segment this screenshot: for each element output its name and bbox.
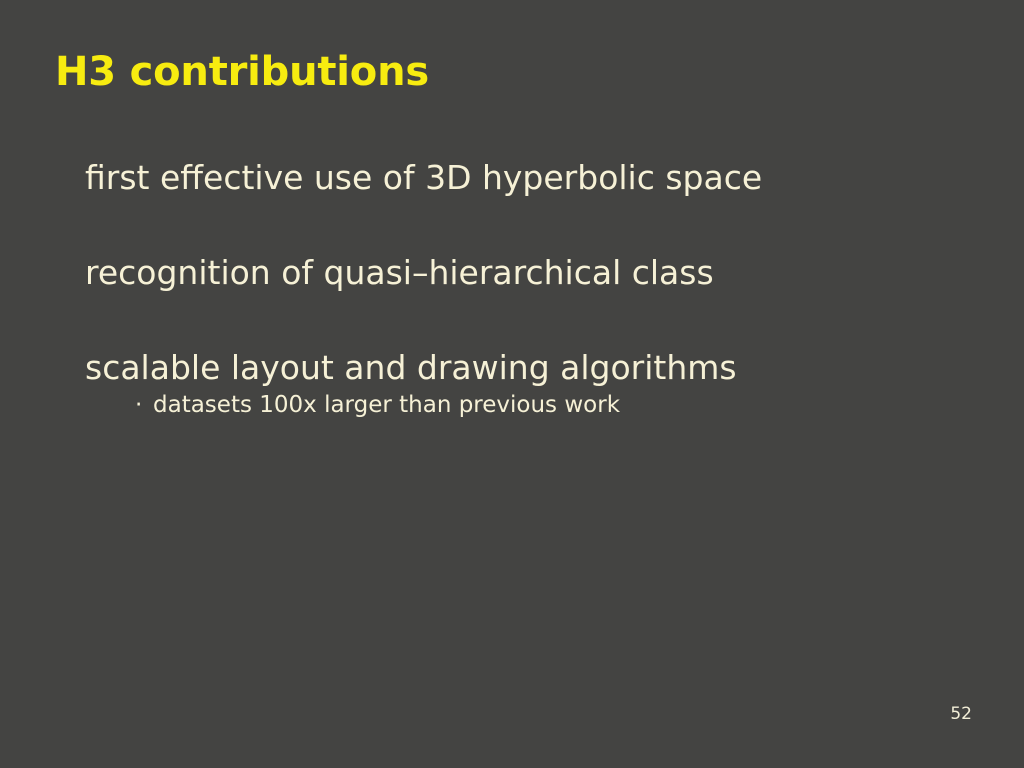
bullet-item-3: scalable layout and drawing algorithms [85,348,985,388]
sub-bullet-item-1: ·datasets 100x larger than previous work [135,390,985,420]
slide-body: first effective use of 3D hyperbolic spa… [85,158,985,420]
bullet-item-2: recognition of quasi–hierarchical class [85,253,985,348]
page-title: H3 contributions [55,49,429,95]
bullet-item-1: first effective use of 3D hyperbolic spa… [85,158,985,253]
bullet-group: scalable layout and drawing algorithms ·… [85,348,985,420]
slide-canvas: H3 contributions first effective use of … [0,0,1024,768]
bullet-dot-icon: · [135,390,153,420]
page-number: 52 [950,704,972,724]
bullet-group: first effective use of 3D hyperbolic spa… [85,158,985,253]
bullet-group: recognition of quasi–hierarchical class [85,253,985,348]
sub-bullet-label: datasets 100x larger than previous work [153,392,620,418]
